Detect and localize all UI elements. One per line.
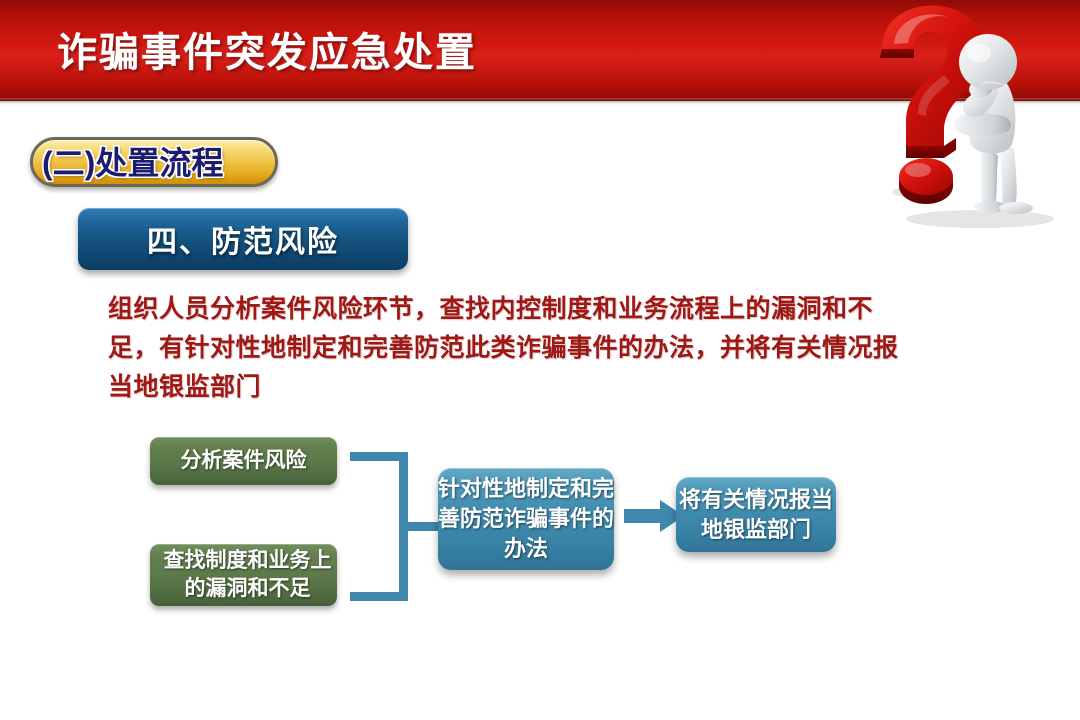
flow-node-report[interactable]: 将有关情况报当地银监部门 — [676, 477, 836, 552]
flow-node-measures[interactable]: 针对性地制定和完善防范诈骗事件的办法 — [438, 468, 614, 570]
flow-node-label: 针对性地制定和完善防范诈骗事件的办法 — [438, 474, 614, 564]
flow-node-find-gaps[interactable]: 查找制度和业务上的漏洞和不足 — [150, 544, 337, 606]
flow-node-analyze-risk[interactable]: 分析案件风险 — [150, 437, 337, 485]
slide-canvas: 诈骗事件突发应急处置 — [0, 0, 1080, 720]
flow-node-label: 将有关情况报当地银监部门 — [676, 485, 836, 545]
flow-node-label: 查找制度和业务上的漏洞和不足 — [162, 547, 333, 603]
flow-node-label: 分析案件风险 — [150, 447, 337, 475]
flow-diagram: 分析案件风险 查找制度和业务上的漏洞和不足 针对性地制定和完善防范诈骗事件的办法… — [0, 0, 1080, 720]
